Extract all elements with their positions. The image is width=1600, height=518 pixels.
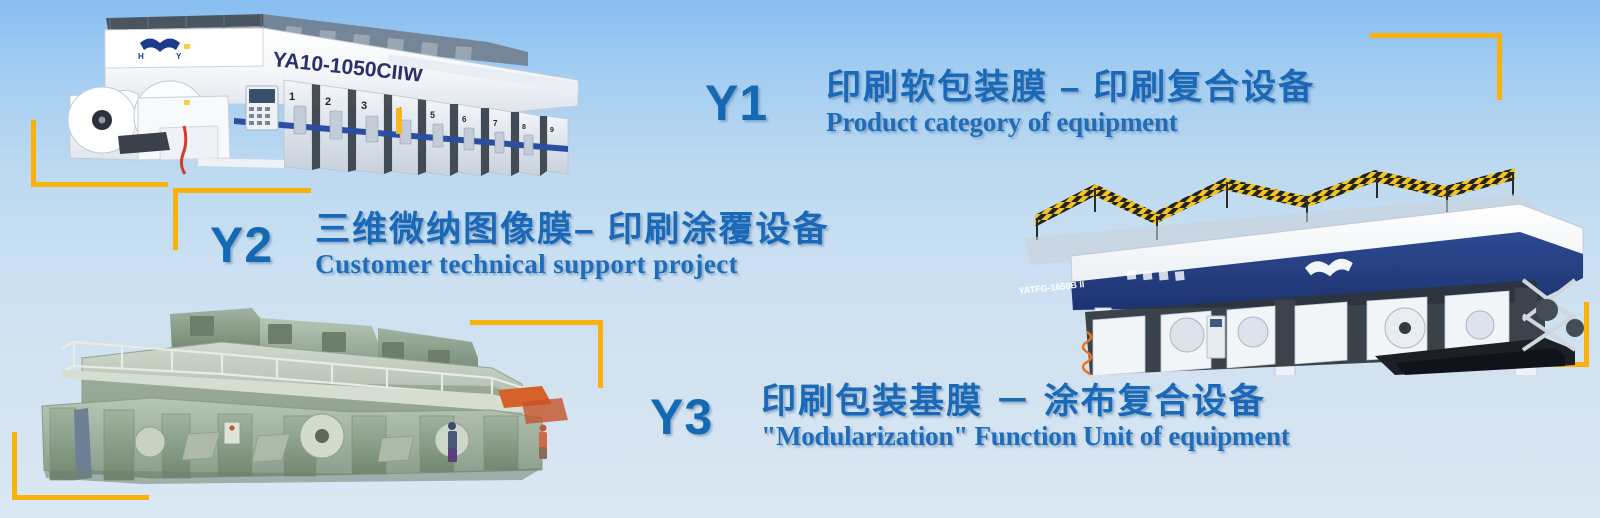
svg-text:9: 9 xyxy=(550,127,554,134)
svg-text:1: 1 xyxy=(289,91,295,103)
entry-row-y2: Y2 三维微纳图像膜– 印刷涂覆设备 Customer technical su… xyxy=(210,210,829,280)
bracket-bottom-left-horizontal xyxy=(12,495,149,500)
svg-text:Y: Y xyxy=(176,52,182,61)
svg-text:7: 7 xyxy=(493,119,498,128)
bracket-top-right-vertical xyxy=(1497,33,1502,100)
bracket-y2-vertical xyxy=(173,188,178,250)
bracket-bottom-left-vertical xyxy=(12,432,17,500)
bracket-top-right-horizontal xyxy=(1370,33,1502,38)
svg-text:8: 8 xyxy=(522,124,526,131)
machine-image-rotogravure-press: H Y YA10-1050CIIW xyxy=(58,8,603,183)
bracket-y1-vertical xyxy=(31,120,36,186)
entry-title-en-y1: Product category of equipment xyxy=(826,108,1315,138)
entry-code-y1: Y1 xyxy=(705,78,768,128)
bracket-y2-horizontal xyxy=(173,188,311,193)
entry-title-cn-y2: 三维微纳图像膜– 印刷涂覆设备 xyxy=(315,210,829,250)
entry-title-cn-y1: 印刷软包装膜 – 印刷复合设备 xyxy=(826,68,1315,108)
bracket-y3-vertical xyxy=(598,320,603,388)
machine-image-base-film-line xyxy=(22,302,582,484)
svg-text:3: 3 xyxy=(361,100,367,112)
svg-text:5: 5 xyxy=(430,110,435,120)
svg-text:6: 6 xyxy=(462,115,467,124)
entry-title-en-y3: "Modularization" Function Unit of equipm… xyxy=(761,422,1289,452)
entry-code-y3: Y3 xyxy=(650,392,713,442)
product-banner: H Y YA10-1050CIIW xyxy=(0,0,1600,518)
entry-title-cn-y3: 印刷包装基膜 － 涂布复合设备 xyxy=(761,382,1289,422)
entry-row-y1: Y1 印刷软包装膜 – 印刷复合设备 Product category of e… xyxy=(705,68,1315,138)
svg-text:2: 2 xyxy=(325,96,331,108)
entry-code-y2: Y2 xyxy=(210,220,273,270)
svg-text:H: H xyxy=(138,52,144,61)
machine-image-coating-laminator: YATFG-1650B II xyxy=(975,160,1595,375)
entry-title-en-y2: Customer technical support project xyxy=(315,250,829,280)
entry-row-y3: Y3 印刷包装基膜 － 涂布复合设备 "Modularization" Func… xyxy=(650,382,1290,452)
